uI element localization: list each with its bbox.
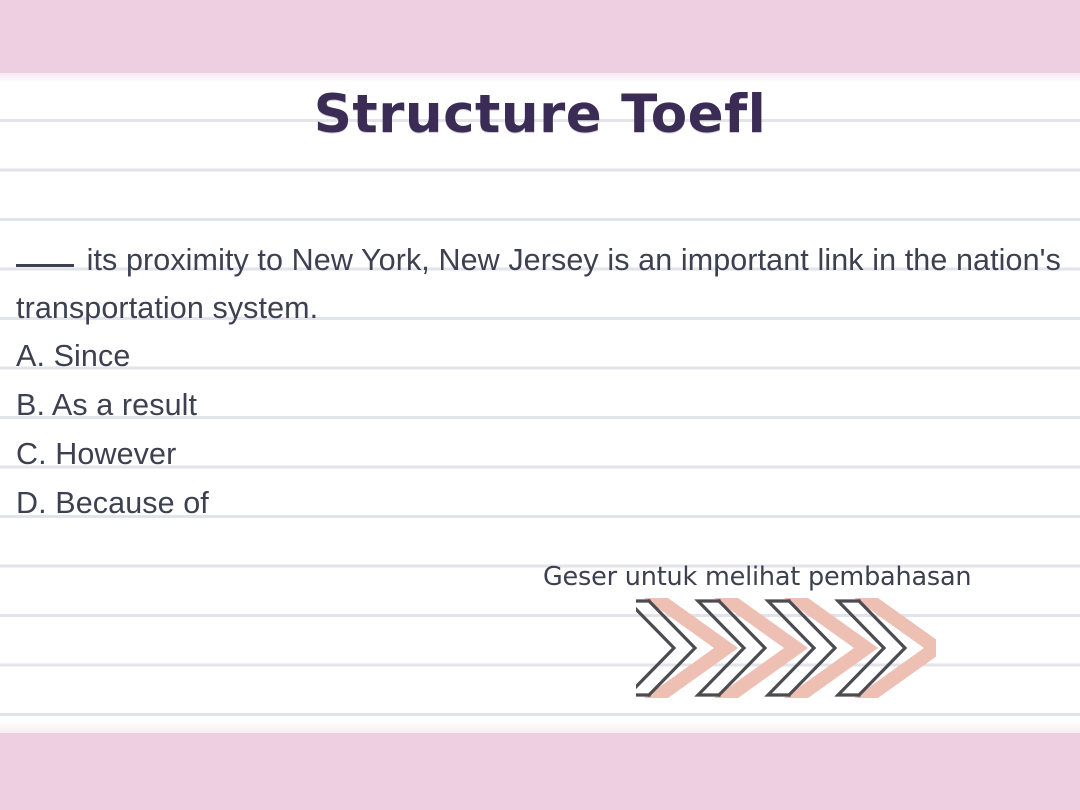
answer-blank-underscore <box>16 264 74 267</box>
top-pink-band <box>0 0 1080 73</box>
option-a[interactable]: A. Since <box>16 332 1066 381</box>
chevron-fill-icon <box>644 598 738 698</box>
page-title: Structure Toefl <box>0 84 1080 145</box>
question-sentence: its proximity to New York, New Jersey is… <box>16 243 1061 325</box>
question-text: its proximity to New York, New Jersey is… <box>16 236 1066 332</box>
chevron-pair-4 <box>838 598 936 698</box>
swipe-chevrons-group[interactable] <box>636 596 936 700</box>
swipe-hint-label: Geser untuk melihat pembahasan <box>543 562 971 592</box>
option-d[interactable]: D. Because of <box>16 479 1066 528</box>
option-c[interactable]: C. However <box>16 430 1066 479</box>
chevron-pair-1 <box>636 598 738 698</box>
top-band-shadow <box>0 73 1080 82</box>
answer-options-list: A. Since B. As a result C. However D. Be… <box>16 332 1066 528</box>
slide-canvas: Structure Toefl its proximity to New Yor… <box>0 0 1080 810</box>
bottom-band-shadow <box>0 721 1080 733</box>
question-content: its proximity to New York, New Jersey is… <box>16 236 1066 528</box>
bottom-pink-band <box>0 733 1080 810</box>
option-b[interactable]: B. As a result <box>16 381 1066 430</box>
